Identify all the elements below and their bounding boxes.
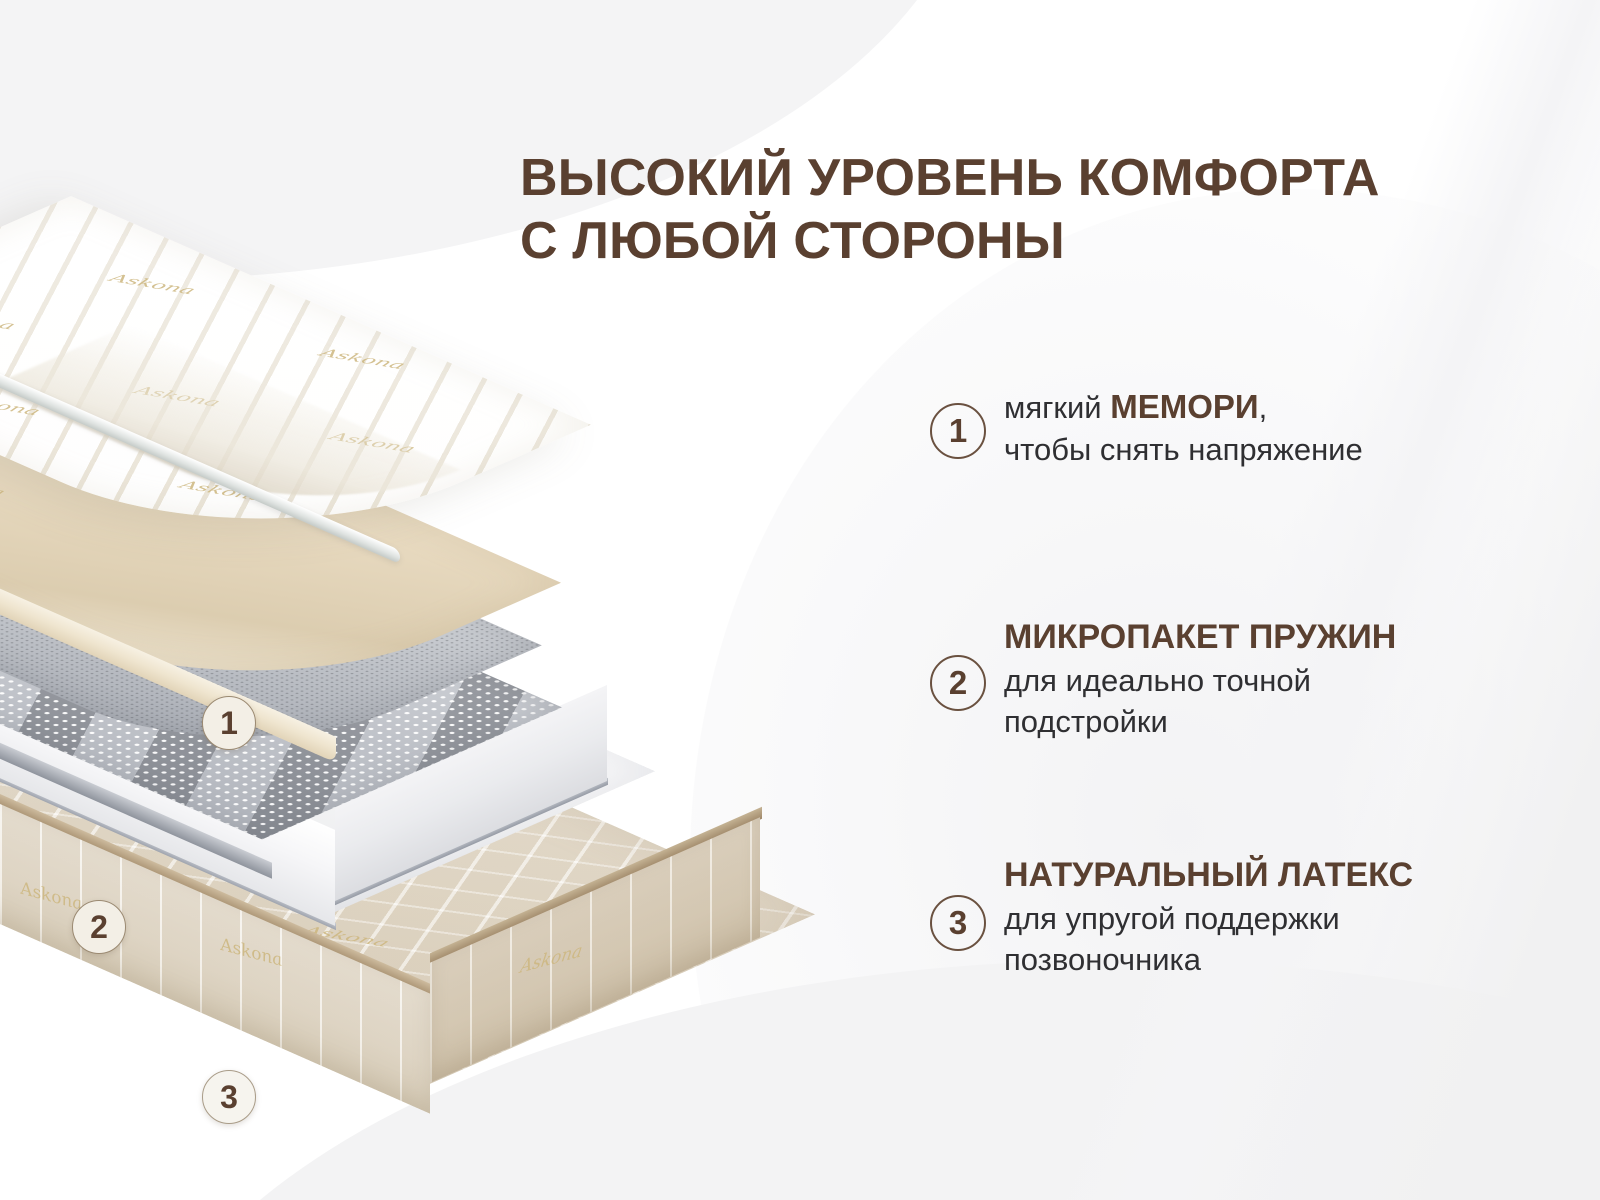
feature-1-prefix: мягкий <box>1004 390 1110 425</box>
feature-badge-3-number: 3 <box>949 904 967 942</box>
feature-1-suffix: , <box>1259 390 1268 425</box>
feature-2-line-2: подстройки <box>1004 701 1396 743</box>
artwork-badge-2: 2 <box>72 900 126 954</box>
artwork-badge-2-number: 2 <box>90 909 108 946</box>
artwork-badge-3: 3 <box>202 1070 256 1124</box>
feature-badge-2: 2 <box>930 655 986 711</box>
feature-3-line-2: позвоночника <box>1004 939 1413 981</box>
feature-3-title: НАТУРАЛЬНЫЙ ЛАТЕКС <box>1004 855 1413 896</box>
feature-1-line-2: чтобы снять напряжение <box>1004 429 1363 471</box>
feature-2-title: МИКРОПАКЕТ ПРУЖИН <box>1004 617 1396 658</box>
feature-badge-3: 3 <box>930 895 986 951</box>
artwork-badge-3-number: 3 <box>220 1079 238 1116</box>
feature-item-3: 3 НАТУРАЛЬНЫЙ ЛАТЕКС для упругой поддерж… <box>930 855 1413 981</box>
feature-text-1: мягкий МЕМОРИ, чтобы снять напряжение <box>1004 385 1363 471</box>
infographic-canvas: ВЫСОКИЙ УРОВЕНЬ КОМФОРТА С ЛЮБОЙ СТОРОНЫ… <box>0 0 1600 1200</box>
mattress-illustration: Askona Askona Askona Askona Askona Askon… <box>0 190 880 1110</box>
feature-text-3: НАТУРАЛЬНЫЙ ЛАТЕКС для упругой поддержки… <box>1004 855 1413 981</box>
feature-3-line-1: для упругой поддержки <box>1004 898 1413 940</box>
feature-text-2: МИКРОПАКЕТ ПРУЖИН для идеально точной по… <box>1004 617 1396 743</box>
feature-badge-1-number: 1 <box>949 412 967 450</box>
artwork-badge-1-number: 1 <box>220 705 238 742</box>
artwork-badge-1: 1 <box>202 696 256 750</box>
feature-item-1: 1 мягкий МЕМОРИ, чтобы снять напряжение <box>930 385 1363 471</box>
feature-1-keyword: МЕМОРИ <box>1110 388 1258 425</box>
feature-badge-1: 1 <box>930 403 986 459</box>
feature-badge-2-number: 2 <box>949 664 967 702</box>
feature-1-line-1: мягкий МЕМОРИ, <box>1004 385 1363 429</box>
feature-2-line-1: для идеально точной <box>1004 660 1396 702</box>
feature-item-2: 2 МИКРОПАКЕТ ПРУЖИН для идеально точной … <box>930 617 1396 743</box>
